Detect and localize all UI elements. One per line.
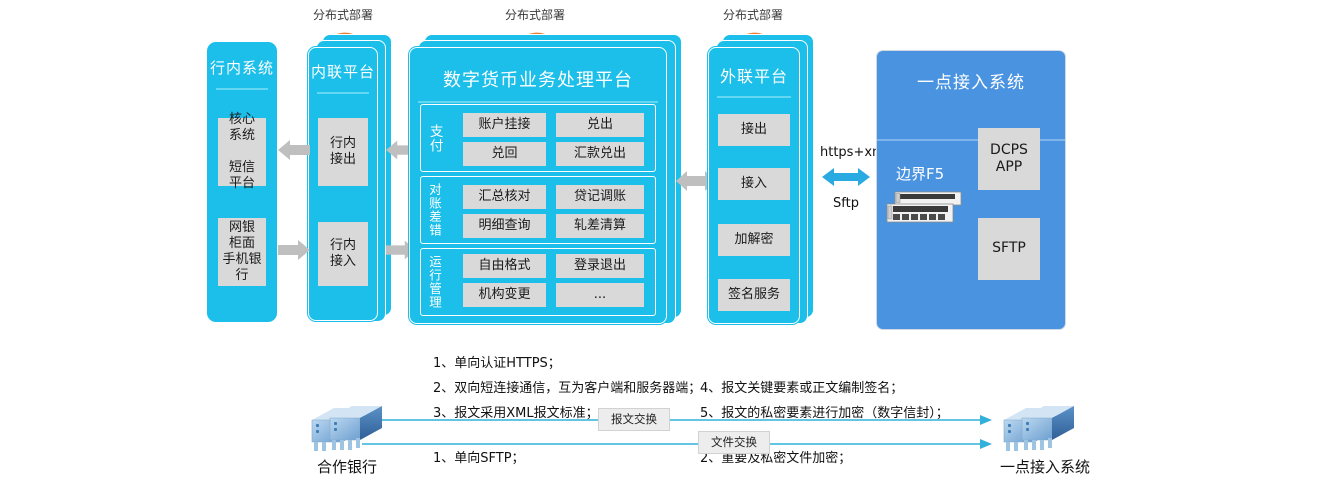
panel-title-intranet: 内联平台 [309,61,377,82]
note-message-1: 1、单向认证HTTPS； [433,352,561,371]
panel-title-external: 外联平台 [709,63,799,87]
dist-label-external: 分布式部署 [723,6,783,23]
panel-title-dcep: 数字货币业务处理平台 [410,66,666,92]
box-core-system[interactable]: 核心 系统 短信 平台 [218,118,266,186]
item-detail-query[interactable]: 明细查询 [463,214,546,238]
box-signature-service[interactable]: 签名服务 [718,279,790,311]
item-netting-settlement[interactable]: 轧差清算 [556,214,644,238]
box-dcps-app[interactable]: DCPS APP [978,128,1040,190]
note-message-2: 2、双向短连接通信，互为客户端和服务器端； [433,377,701,396]
exchange-connectors [340,412,1010,457]
box-ebank-counter-mobile[interactable]: 网银 柜面 手机银行 [218,218,266,286]
item-remittance-exchange-out[interactable]: 汇款兑出 [556,142,644,166]
group-label-operations: 运行管理 [424,250,444,314]
box-encrypt-decrypt[interactable]: 加解密 [718,224,790,256]
panel-title-bank-internal: 行内系统 [208,57,276,78]
protocol-label-sftp: Sftp [833,196,859,211]
group-label-payment: 支付 [424,110,444,166]
dist-label-intranet: 分布式部署 [313,6,373,23]
exchange-tag-message: 报文交换 [598,408,670,431]
gray-arrow-icon [278,140,310,160]
divider [216,88,268,90]
item-exchange-out[interactable]: 兑出 [556,113,644,137]
network-switch-icon [881,190,967,228]
item-more[interactable]: ... [556,283,644,307]
box-intranet-inbound[interactable]: 行内 接入 [318,222,368,286]
divider [418,101,658,103]
endpoint-caption-right: 一点接入系统 [985,456,1105,477]
box-external-outbound[interactable]: 接出 [718,114,790,146]
gray-arrow-icon [278,240,310,260]
item-exchange-back[interactable]: 兑回 [463,142,546,166]
item-credit-adjustment[interactable]: 贷记调账 [556,185,644,209]
blue-double-arrow-icon [822,166,870,188]
exchange-tag-file: 文件交换 [698,431,770,454]
item-login-logout[interactable]: 登录退出 [556,254,644,278]
panel-title-single-access: 一点接入系统 [877,68,1065,93]
item-org-change[interactable]: 机构变更 [463,283,546,307]
diagram-canvas: 分布式部署 分布式部署 分布式部署 行内系统 核心 系统 短信 平台 网银 柜面… [0,0,1333,483]
item-summary-check[interactable]: 汇总核对 [463,185,546,209]
f5-label: 边界F5 [896,163,944,184]
box-intranet-outbound[interactable]: 行内 接出 [318,118,368,186]
group-label-reconciliation: 对账差错 [424,178,444,242]
endpoint-caption-left: 合作银行 [292,456,402,477]
divider [317,92,369,94]
box-external-inbound[interactable]: 接入 [718,168,790,200]
note-message-4: 4、报文关键要素或正文编制签名； [700,377,903,396]
item-free-format[interactable]: 自由格式 [463,254,546,278]
server-stack-icon [1000,404,1078,452]
divider [717,96,791,98]
dist-label-dcep: 分布式部署 [505,6,565,23]
server-stack-icon [308,404,386,452]
box-sftp[interactable]: SFTP [978,218,1040,280]
item-account-link[interactable]: 账户挂接 [463,113,546,137]
